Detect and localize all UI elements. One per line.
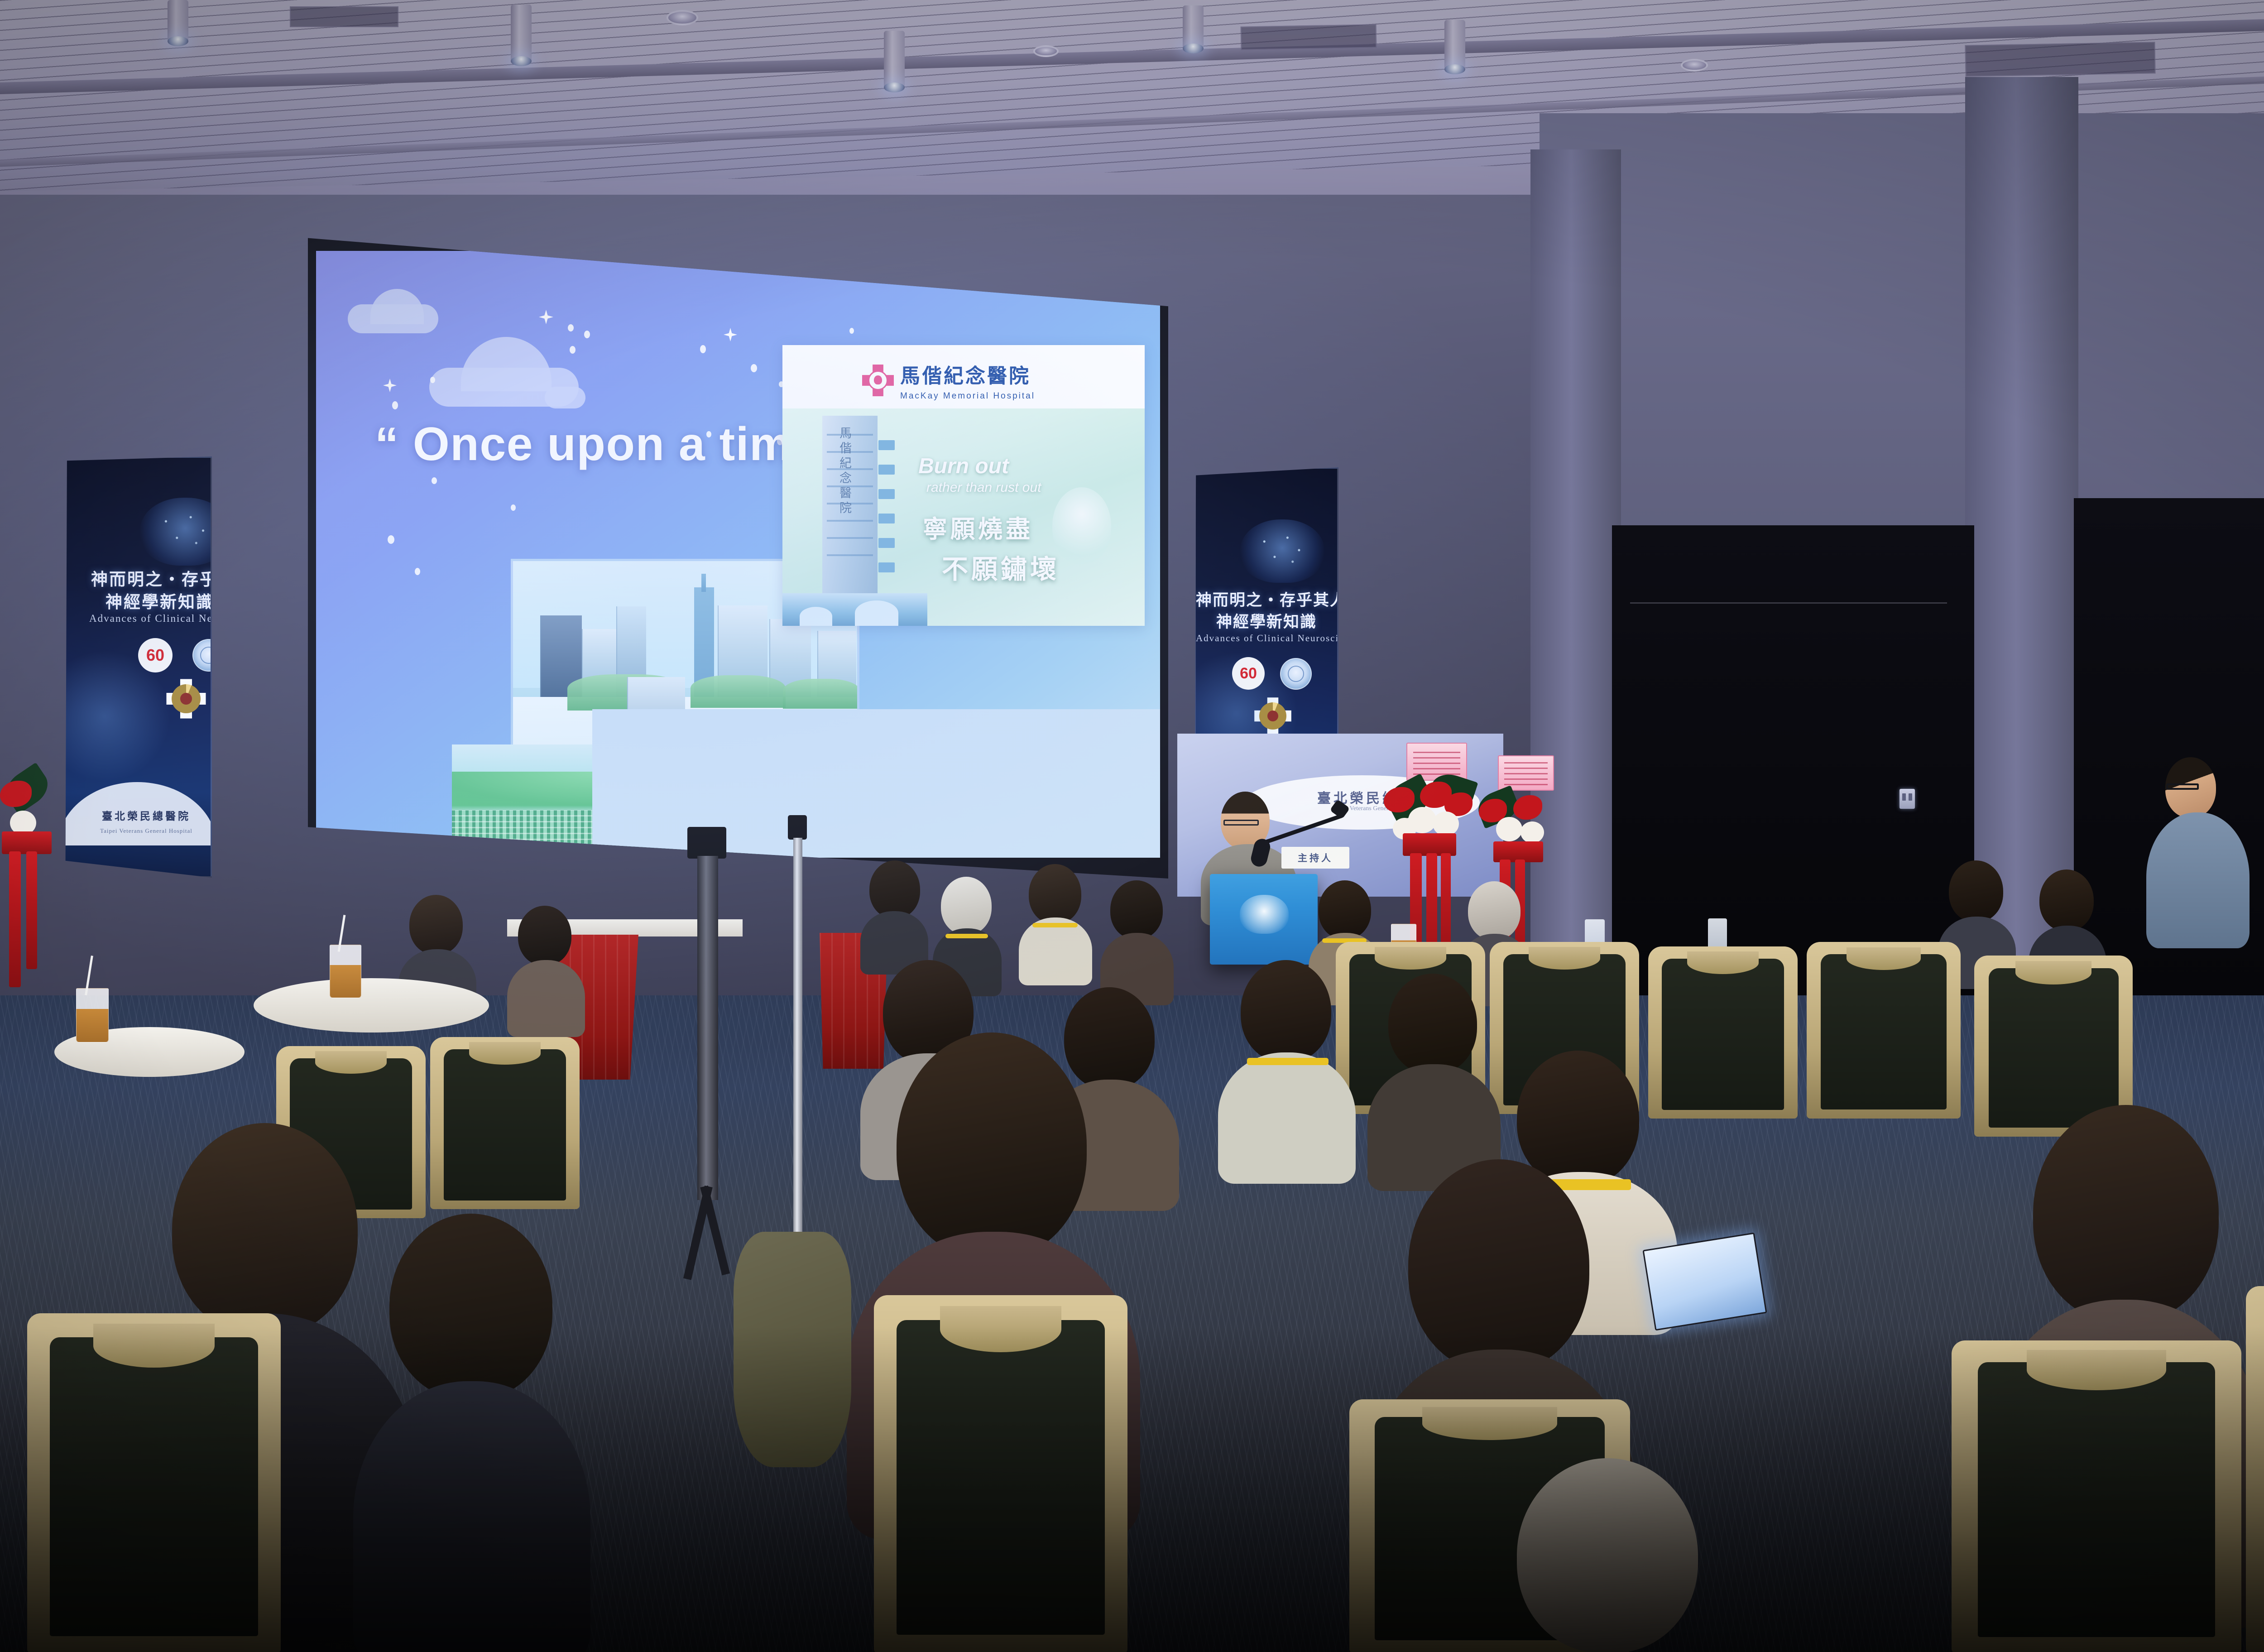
banner-headline-cn-1: 神而明之・存乎其人 — [1196, 587, 1337, 610]
brain-icon — [1240, 519, 1324, 583]
attendee-head — [518, 906, 571, 965]
hospital-facade-fin — [878, 538, 895, 548]
sparkle-dot — [415, 568, 420, 575]
attendee-head — [1949, 860, 2003, 922]
sparkle-dot — [849, 328, 854, 334]
attendee-head — [1029, 864, 1081, 924]
flower-message-card — [1406, 743, 1467, 781]
video-camera-icon — [687, 827, 726, 859]
attendee-head — [1319, 880, 1371, 939]
speaker-glasses-icon — [1223, 820, 1259, 826]
banquet-chair[interactable] — [430, 1037, 580, 1209]
attendee-head — [1388, 974, 1477, 1074]
presentation-slide: “ Once upon a time…” — [316, 251, 1160, 858]
hospital-building-photo: 馬偕紀念醫院 Burn out rather than rust out 寧願燒… — [782, 408, 1145, 626]
sparkle-dot — [751, 364, 757, 372]
national-emblem-icon — [172, 684, 201, 713]
attendee-head — [1468, 881, 1521, 940]
attendee-foreground — [1440, 1458, 1766, 1652]
ceiling-vent — [1965, 42, 2155, 77]
banner-headline-cn-1: 神而明之・存乎其人 — [64, 566, 211, 590]
taipei101-spire — [701, 574, 706, 592]
attendee-lanyard — [1247, 1058, 1329, 1065]
attendee-torso — [507, 960, 585, 1037]
attendee-lanyard — [1032, 923, 1078, 927]
cloud-icon — [370, 289, 424, 324]
anniversary-60-text: 60 — [146, 647, 164, 663]
banner-subtitle-en: Advances of Clinical Neuroscience — [1196, 633, 1337, 644]
motto-en-line2: rather than rust out — [926, 480, 1041, 495]
pendant-light — [1444, 20, 1465, 70]
camera-tripod-column — [697, 856, 718, 1200]
flower-ribbon-tail — [26, 851, 37, 969]
attendee-torso — [1019, 917, 1092, 985]
flower-ribbon — [1403, 833, 1456, 856]
hospital-cross-logo-icon — [862, 365, 894, 396]
cloud-icon — [545, 387, 585, 408]
sparkle-dot — [392, 401, 398, 409]
attendee-head — [869, 860, 920, 918]
anniversary-60-logo: 60 — [138, 638, 173, 672]
attendee — [860, 860, 928, 969]
banner-subtitle-en: Advances of Clinical Neuroscience — [64, 613, 211, 624]
anniversary-60-logo: 60 — [1232, 657, 1265, 690]
mic-stand-head-icon — [788, 815, 807, 840]
mic-stand-pole — [793, 838, 802, 1263]
attendee-torso — [353, 1381, 590, 1652]
hospital-facade-fin — [878, 465, 895, 475]
attendee — [507, 906, 584, 1023]
motto-zh-line2: 不願鏽壞 — [942, 548, 1060, 586]
flower-red-bloom — [1513, 795, 1542, 820]
flower-message-card — [1498, 755, 1554, 791]
attendee — [1100, 880, 1173, 994]
sparkle-dot — [388, 535, 394, 544]
doorway-header-light — [1630, 602, 1947, 604]
pendant-light — [511, 5, 532, 62]
podium — [1210, 874, 1318, 965]
hospital-logo-row: 馬偕紀念醫院 MacKay Memorial Hospital — [862, 360, 1035, 401]
sparkle-dot — [430, 377, 435, 383]
attendee-torso — [2146, 812, 2250, 948]
attendee — [1218, 960, 1354, 1173]
attendee-head — [1241, 960, 1331, 1062]
slide-blank-block — [592, 709, 1160, 858]
banquet-chair[interactable] — [2246, 1286, 2264, 1652]
sparkle-dot — [568, 324, 574, 331]
sparkle-dot — [584, 331, 590, 338]
hospital-watermark-figure — [1052, 487, 1111, 564]
attendee-head — [1517, 1458, 1698, 1652]
banquet-chair[interactable] — [27, 1313, 281, 1652]
attendee-head — [389, 1214, 552, 1399]
banner-headline-cn-2: 神經學新知識 — [1196, 609, 1337, 632]
projection-screen: “ Once upon a time…” — [308, 235, 1168, 879]
anniversary-60-text: 60 — [1240, 666, 1257, 681]
banquet-chair[interactable] — [1952, 1340, 2241, 1652]
attendee-head — [409, 895, 463, 955]
wall-pillar — [1965, 77, 2078, 983]
attendee-head — [172, 1123, 358, 1336]
cloud-icon — [461, 337, 552, 391]
drink-cup — [76, 988, 109, 1042]
attendee-head — [1110, 880, 1163, 939]
attendee-head — [2033, 1105, 2219, 1322]
pendant-light — [884, 31, 905, 88]
hospital-facade-fin — [878, 440, 895, 450]
star-icon — [383, 379, 397, 392]
brain-icon — [140, 498, 212, 566]
banquet-chair[interactable] — [1807, 942, 1961, 1119]
flower-ribbon-tail — [9, 851, 21, 987]
standing-attendee — [2146, 757, 2250, 947]
star-icon — [539, 310, 553, 324]
flower-ribbon — [2, 831, 52, 854]
ceiling-vent — [290, 6, 398, 27]
hospital-entrance-photo — [782, 593, 927, 626]
entrance-arch — [855, 600, 898, 626]
podium-brain-logo-icon — [1240, 895, 1289, 934]
attendee — [1019, 864, 1091, 977]
sparkle-dot — [570, 346, 576, 354]
society-seal-logo-icon — [1280, 658, 1312, 690]
star-icon — [724, 328, 737, 341]
attendee — [1367, 974, 1499, 1182]
flower-white-lily — [1433, 812, 1459, 836]
motto-zh-line1: 寧願燒盡 — [923, 509, 1033, 545]
attendee-head — [897, 1032, 1087, 1259]
side-table — [254, 978, 489, 1032]
ceiling-vent — [1241, 24, 1377, 50]
roadside-trees — [783, 679, 859, 709]
recessed-ceiling-fixture — [1033, 45, 1059, 57]
conference-hall-photo: “ Once upon a time…” — [0, 0, 2264, 1652]
banquet-chair[interactable] — [874, 1295, 1127, 1652]
sparkle-dot — [700, 345, 706, 353]
entrance-arch — [800, 607, 832, 626]
motto-en-line1: Burn out — [918, 454, 1009, 479]
roadside-trees — [691, 675, 786, 708]
recessed-ceiling-fixture — [1681, 59, 1708, 72]
recessed-ceiling-fixture — [667, 10, 698, 25]
national-emblem-icon — [1259, 702, 1286, 730]
backpack — [734, 1232, 851, 1467]
hospital-name-en: MacKay Memorial Hospital — [900, 391, 1035, 401]
sparkle-dot — [432, 477, 437, 484]
attendee-head — [2039, 869, 2094, 931]
hospital-facade-fin — [878, 562, 895, 572]
hospital-facade-fin — [878, 514, 895, 523]
attendee-head — [941, 877, 992, 935]
attendee-lanyard — [945, 934, 988, 938]
attendee-glasses-icon — [2166, 783, 2199, 790]
hospital-name-cn: 馬偕紀念醫院 — [900, 360, 1035, 389]
wall-outlet[interactable] — [1899, 789, 1915, 809]
hospital-facade-fin — [878, 489, 895, 499]
flower-white-lily — [1521, 821, 1544, 843]
slide-hospital-panel: 馬偕紀念醫院 MacKay Memorial Hospital 馬偕紀念醫院 — [782, 345, 1145, 626]
society-seal-logo-icon — [192, 639, 212, 672]
pendant-light — [168, 0, 188, 42]
attendee-head — [1408, 1159, 1589, 1372]
sparkle-dot — [511, 504, 516, 511]
hospital-building-sign-cn: 馬偕紀念醫院 — [836, 427, 854, 516]
attendee-foreground — [353, 1214, 589, 1652]
attendee-torso — [1218, 1052, 1356, 1184]
drink-cup — [330, 945, 361, 998]
flower-white-lily — [1496, 817, 1522, 841]
banner-headline-cn-2: 神經學新知識 — [64, 588, 211, 613]
flower-stand — [0, 743, 86, 996]
pendant-light — [1183, 5, 1204, 49]
podium-name-card: 主持人 — [1281, 847, 1349, 869]
